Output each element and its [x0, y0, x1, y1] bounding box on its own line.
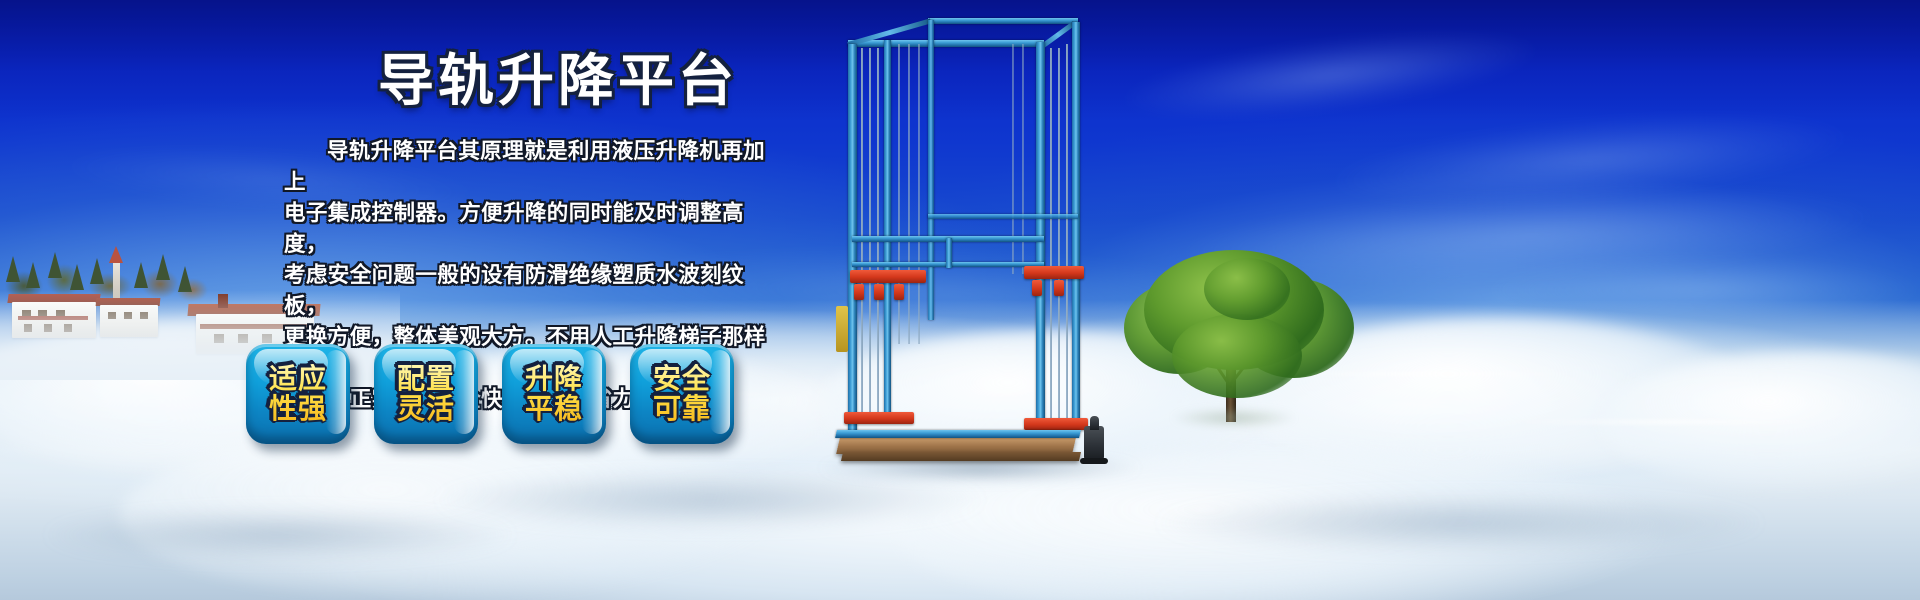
guide-cable [1058, 48, 1060, 438]
cloud-shadow [1150, 492, 1770, 554]
carriage-lug [1032, 280, 1042, 296]
cage-rail-rear [928, 214, 1078, 219]
frame-top-rear [928, 18, 1078, 24]
carriage-lug [894, 284, 904, 300]
feature-badge-smooth-lift[interactable]: 升降 平稳 [502, 344, 606, 444]
tree-canopy [1172, 314, 1302, 398]
tree-canopy [1204, 258, 1290, 320]
green-tree [1108, 252, 1358, 452]
pine-tree-icon [6, 256, 20, 282]
guide-cable [877, 48, 879, 418]
pine-tree-icon [26, 262, 40, 288]
pine-tree-icon [90, 258, 104, 284]
badge-label: 安全 可靠 [653, 364, 711, 424]
feature-badge-list: 适应 性强 配置 灵活 升降 平稳 安全 可靠 [246, 344, 734, 444]
guide-cable [861, 48, 863, 418]
guide-cable [908, 44, 910, 344]
badge-label: 配置 灵活 [397, 364, 455, 424]
pump-motor [1090, 416, 1099, 430]
feature-badge-safety[interactable]: 安全 可靠 [630, 344, 734, 444]
pine-tree-icon [48, 252, 62, 278]
feature-badge-configuration[interactable]: 配置 灵活 [374, 344, 478, 444]
mast-right-rear [1072, 22, 1080, 424]
mast-left-rear [928, 20, 934, 320]
badge-line-1: 安全 [653, 364, 711, 394]
pump-base [1080, 458, 1108, 464]
badge-line-1: 配置 [397, 364, 455, 394]
badge-line-2: 灵活 [397, 394, 455, 424]
badge-line-1: 升降 [525, 364, 583, 394]
cloud-shadow [40, 508, 520, 562]
guide-cable [918, 44, 920, 344]
control-box [836, 306, 848, 352]
badge-line-1: 适应 [269, 364, 327, 394]
frame-top-right-diagonal [1041, 21, 1076, 49]
pine-tree-icon [134, 262, 148, 288]
mast-left-inner [884, 40, 891, 418]
platform-deck-edge [841, 452, 1081, 461]
carriage-lug [1054, 280, 1064, 296]
description-line: 考虑安全问题一般的设有防滑绝缘塑质水波刻纹板， [284, 260, 770, 322]
description-line: 电子集成控制器。方便升降的同时能及时调整高度， [284, 198, 770, 260]
badge-line-2: 可靠 [653, 394, 711, 424]
pine-tree-icon [178, 266, 192, 292]
guide-rail-lift-platform [828, 14, 1118, 484]
carriage-lug [854, 284, 864, 300]
feature-badge-adaptability[interactable]: 适应 性强 [246, 344, 350, 444]
hydraulic-pump [1084, 426, 1104, 460]
badge-label: 适应 性强 [269, 364, 327, 424]
badge-line-2: 平稳 [525, 394, 583, 424]
carriage-bar-right [1024, 266, 1084, 279]
guide-cable [1066, 44, 1068, 424]
badge-line-2: 性强 [269, 394, 327, 424]
base-bar-right [1024, 418, 1088, 430]
base-bar-left [844, 412, 914, 424]
guide-cable [869, 48, 871, 418]
tree-ground-shadow [1172, 408, 1296, 428]
mast-right-front [1036, 42, 1045, 446]
page-title: 导轨升降平台 [378, 54, 738, 110]
platform-frame [835, 430, 1081, 438]
guide-cable [1050, 48, 1052, 438]
carriage-lug [874, 284, 884, 300]
badge-label: 升降 平稳 [525, 364, 583, 424]
cage-post [946, 238, 952, 268]
carriage-bar-left [850, 270, 926, 283]
cloud-streak [1500, 420, 1840, 424]
pine-tree-icon [70, 264, 84, 290]
frame-top-front [848, 40, 1044, 47]
description-line: 导轨升降平台其原理就是利用液压升降机再加上 [284, 136, 770, 198]
pine-tree-icon [156, 254, 170, 280]
promo-banner: 导轨升降平台 导轨升降平台其原理就是利用液压升降机再加上 电子集成控制器。方便升… [0, 0, 1920, 600]
